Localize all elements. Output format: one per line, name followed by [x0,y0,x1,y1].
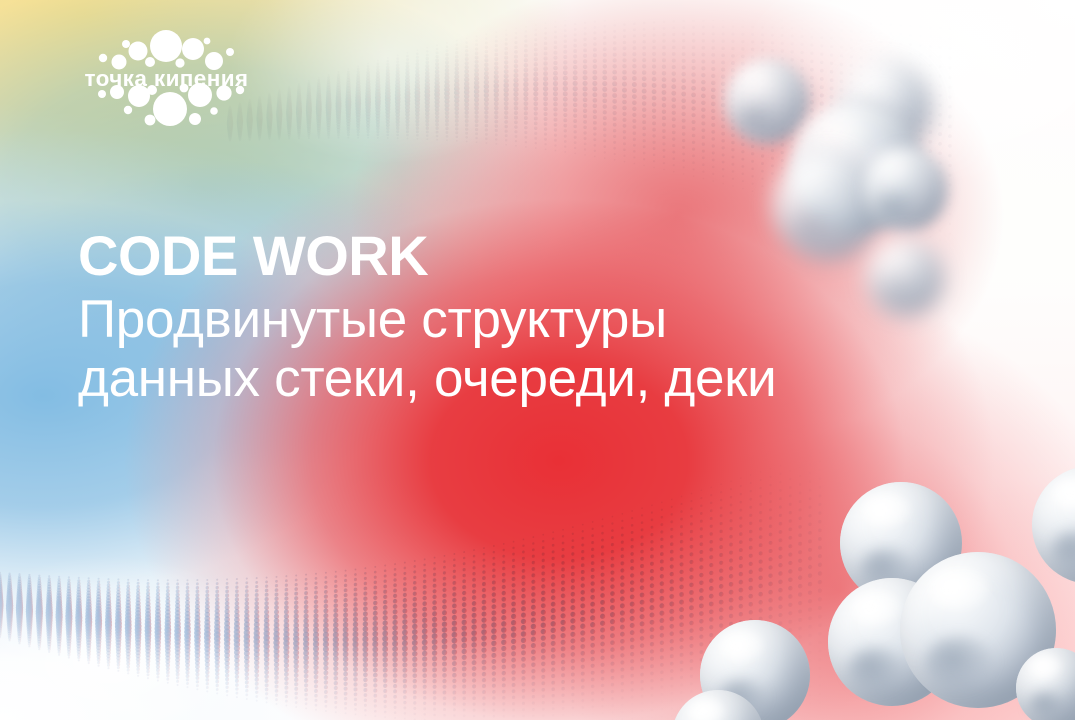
brand-logo[interactable]: точка кипения [64,24,269,129]
headline-block: CODE WORK Продвинутые структуры данных с… [78,228,1038,409]
glass-sphere [862,146,948,232]
page-subtitle-line-1: Продвинутые структуры [78,290,1038,349]
page-subtitle-line-2: данных стеки, очереди, деки [78,349,1038,408]
glass-sphere [724,58,810,144]
page-title: CODE WORK [78,228,1038,284]
brand-logo-text: точка кипения [64,68,269,91]
poster-canvas: точка кипения CODE WORK Продвинутые стру… [0,0,1075,720]
page-subtitle: Продвинутые структуры данных стеки, очер… [78,290,1038,409]
